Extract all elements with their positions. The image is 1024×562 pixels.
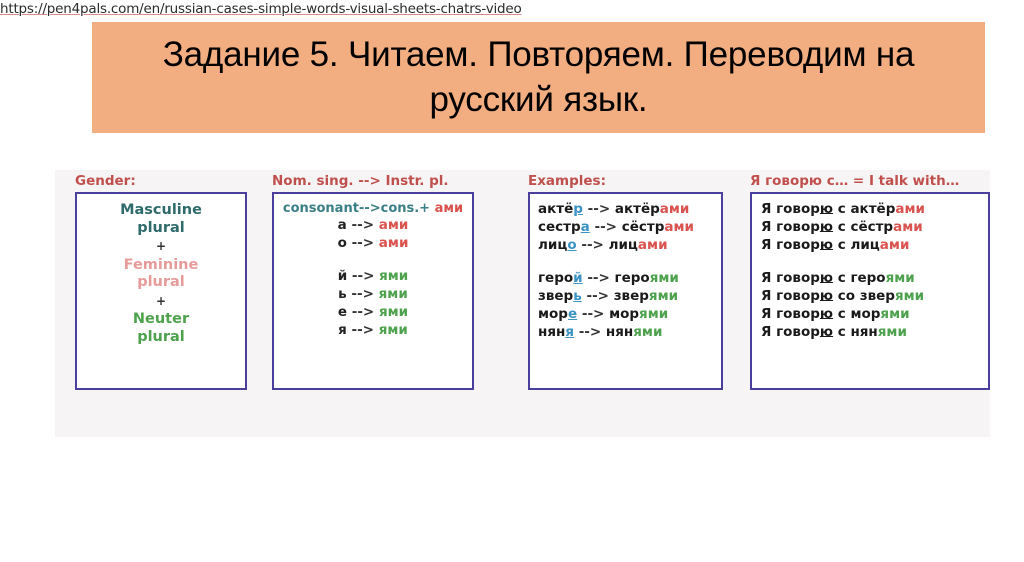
- gender-plus-sign: +: [81, 237, 241, 256]
- example-plural-ending: ями: [633, 324, 662, 340]
- url-bar: https://pen4pals.com/en/russian-cases-si…: [0, 0, 1024, 18]
- sentence-preposition: со: [833, 288, 860, 304]
- sentence-noun-stem: мор: [850, 306, 880, 322]
- example-plural-stem: звер: [614, 288, 649, 304]
- rule-spacer: [280, 253, 466, 268]
- example-row: море --> морями: [538, 306, 721, 324]
- rule-ending: ями: [379, 322, 408, 338]
- example-row: лицо --> лицами: [538, 237, 721, 255]
- sentence-verb-stem: Я говор: [761, 270, 820, 286]
- column-gender-box: Masculineplural+Feminineplural+Neuterplu…: [75, 192, 247, 390]
- rule-source: consonant: [283, 201, 359, 216]
- rule-row: ь --> ями: [280, 286, 466, 304]
- sentence-verb-ending: ю: [820, 201, 833, 217]
- sentence-preposition: с: [833, 324, 850, 340]
- sentence-row: Я говорю с лицами: [761, 237, 988, 255]
- rule-target-stem: cons.+: [381, 201, 435, 216]
- example-plural-stem: лиц: [609, 237, 638, 253]
- rule-source: ь: [338, 286, 347, 302]
- sentence-noun-ending: ями: [878, 324, 907, 340]
- sentence-row: Я говорю со зверями: [761, 288, 988, 306]
- grammar-sheet: Gender: Masculineplural+Feminineplural+N…: [55, 170, 990, 437]
- sentence-noun-stem: актёр: [850, 201, 895, 217]
- example-row: няня --> нянями: [538, 324, 721, 342]
- example-row: сестра --> сёстрами: [538, 219, 721, 237]
- arrow-icon: -->: [574, 324, 606, 340]
- rule-row: й --> ями: [280, 268, 466, 286]
- example-plural-stem: сёстр: [622, 219, 665, 235]
- arrow-icon: -->: [577, 237, 609, 253]
- gender-line: plural: [81, 220, 241, 238]
- example-spacer: [538, 255, 721, 270]
- sentence-preposition: с: [833, 237, 850, 253]
- arrow-icon: -->: [347, 268, 379, 284]
- rule-source: а: [338, 217, 347, 233]
- sentence-noun-ending: ами: [880, 237, 910, 253]
- gender-line: Feminine: [81, 257, 241, 275]
- rule-ending: ами: [435, 201, 464, 216]
- sentence-row: Я говорю с сёстрами: [761, 219, 988, 237]
- example-plural-ending: ями: [650, 270, 679, 286]
- gender-line: Neuter: [81, 311, 241, 329]
- example-singular-stem: нян: [538, 324, 565, 340]
- sentence-noun-ending: ами: [895, 201, 925, 217]
- sentence-row: Я говорю с актёрами: [761, 201, 988, 219]
- example-plural-stem: мор: [609, 306, 639, 322]
- rule-source: о: [338, 235, 347, 251]
- example-singular-ending: я: [565, 324, 574, 340]
- sentence-noun-ending: ями: [895, 288, 924, 304]
- example-singular-stem: актё: [538, 201, 573, 217]
- column-sentences: Я говорю с… = I talk with… Я говорю с ак…: [750, 170, 990, 390]
- gender-line: Masculine: [81, 202, 241, 220]
- example-singular-ending: а: [581, 219, 590, 235]
- sentence-preposition: с: [833, 270, 850, 286]
- example-singular-ending: е: [568, 306, 577, 322]
- column-rules-header: Nom. sing. --> Instr. pl.: [272, 170, 474, 192]
- example-plural-ending: ями: [649, 288, 678, 304]
- rule-source: я: [338, 322, 347, 338]
- column-rules: Nom. sing. --> Instr. pl. consonant-->co…: [272, 170, 474, 390]
- rule-row: е --> ями: [280, 304, 466, 322]
- column-sentences-header: Я говорю с… = I talk with…: [750, 170, 990, 192]
- arrow-icon: -->: [577, 306, 609, 322]
- sentence-spacer: [761, 255, 988, 270]
- example-singular-stem: звер: [538, 288, 573, 304]
- example-singular-ending: р: [573, 201, 583, 217]
- rule-source: й: [338, 268, 347, 284]
- sentence-noun-stem: геро: [850, 270, 885, 286]
- sentence-verb-stem: Я говор: [761, 201, 820, 217]
- column-examples-box: актёр --> актёрамисестра --> сёстрамилиц…: [528, 192, 723, 390]
- column-rules-box: consonant-->cons.+ амиа --> амио --> ами…: [272, 192, 474, 390]
- example-plural-stem: нян: [606, 324, 633, 340]
- sentence-verb-stem: Я говор: [761, 324, 820, 340]
- gender-line: plural: [81, 329, 241, 347]
- example-singular-stem: геро: [538, 270, 573, 286]
- sentence-noun-stem: звер: [860, 288, 895, 304]
- arrow-icon: -->: [583, 270, 615, 286]
- sentence-verb-ending: ю: [820, 288, 833, 304]
- column-gender-header: Gender:: [75, 170, 247, 192]
- example-plural-ending: ами: [664, 219, 694, 235]
- rule-ending: ами: [379, 217, 409, 233]
- column-examples: Examples: актёр --> актёрамисестра --> с…: [528, 170, 723, 390]
- example-singular-stem: мор: [538, 306, 568, 322]
- page-title: Задание 5. Читаем. Повторяем. Переводим …: [110, 33, 967, 123]
- sentence-verb-ending: ю: [820, 270, 833, 286]
- rule-row: consonant-->cons.+ ами: [280, 200, 466, 217]
- sentence-verb-stem: Я говор: [761, 219, 820, 235]
- rule-ending: ями: [379, 268, 408, 284]
- slide-page: https://pen4pals.com/en/russian-cases-si…: [0, 0, 1024, 562]
- example-singular-ending: о: [567, 237, 576, 253]
- gender-plus-sign: +: [81, 292, 241, 311]
- sentence-verb-ending: ю: [820, 219, 833, 235]
- column-examples-header: Examples:: [528, 170, 723, 192]
- sentence-noun-stem: лиц: [850, 237, 879, 253]
- arrow-icon: -->: [582, 288, 614, 304]
- rule-ending: ями: [379, 304, 408, 320]
- arrow-icon: -->: [347, 286, 379, 302]
- column-sentences-box: Я говорю с актёрамиЯ говорю с сёстрамиЯ …: [750, 192, 990, 390]
- rule-row: я --> ями: [280, 322, 466, 340]
- sentence-noun-ending: ами: [893, 219, 923, 235]
- sentence-noun-ending: ями: [880, 306, 909, 322]
- sentence-verb-ending: ю: [820, 306, 833, 322]
- example-singular-stem: сестр: [538, 219, 581, 235]
- sentence-noun-stem: нян: [850, 324, 877, 340]
- sentence-verb-stem: Я говор: [761, 288, 820, 304]
- example-plural-stem: актёр: [615, 201, 660, 217]
- example-plural-ending: ями: [639, 306, 668, 322]
- arrow-icon: -->: [347, 322, 379, 338]
- example-plural-ending: ами: [638, 237, 668, 253]
- example-row: зверь --> зверями: [538, 288, 721, 306]
- example-singular-ending: й: [573, 270, 582, 286]
- sentence-row: Я говорю с морями: [761, 306, 988, 324]
- example-row: герой --> героями: [538, 270, 721, 288]
- sentence-row: Я говорю с героями: [761, 270, 988, 288]
- example-singular-stem: лиц: [538, 237, 567, 253]
- rule-row: а --> ами: [280, 217, 466, 235]
- arrow-icon: -->: [347, 235, 379, 251]
- sentence-verb-stem: Я говор: [761, 237, 820, 253]
- sentence-preposition: с: [833, 219, 850, 235]
- example-row: актёр --> актёрами: [538, 201, 721, 219]
- column-gender: Gender: Masculineplural+Feminineplural+N…: [75, 170, 247, 390]
- rule-ending: ями: [379, 286, 408, 302]
- example-plural-ending: ами: [660, 201, 690, 217]
- sentence-verb-stem: Я говор: [761, 306, 820, 322]
- sentence-verb-ending: ю: [820, 237, 833, 253]
- rule-ending: ами: [379, 235, 409, 251]
- arrow-icon: -->: [347, 217, 379, 233]
- sentence-verb-ending: ю: [820, 324, 833, 340]
- sentence-row: Я говорю с нянями: [761, 324, 988, 342]
- arrow-icon: -->: [359, 201, 381, 216]
- sentence-noun-stem: сёстр: [850, 219, 893, 235]
- example-singular-ending: ь: [573, 288, 582, 304]
- title-banner: Задание 5. Читаем. Повторяем. Переводим …: [92, 22, 985, 133]
- arrow-icon: -->: [590, 219, 622, 235]
- page-url[interactable]: https://pen4pals.com/en/russian-cases-si…: [0, 1, 522, 17]
- rule-row: о --> ами: [280, 235, 466, 253]
- gender-line: plural: [81, 274, 241, 292]
- sentence-preposition: с: [833, 201, 850, 217]
- rule-source: е: [338, 304, 347, 320]
- example-plural-stem: геро: [615, 270, 650, 286]
- arrow-icon: -->: [347, 304, 379, 320]
- arrow-icon: -->: [583, 201, 615, 217]
- sentence-preposition: с: [833, 306, 850, 322]
- sentence-noun-ending: ями: [886, 270, 915, 286]
